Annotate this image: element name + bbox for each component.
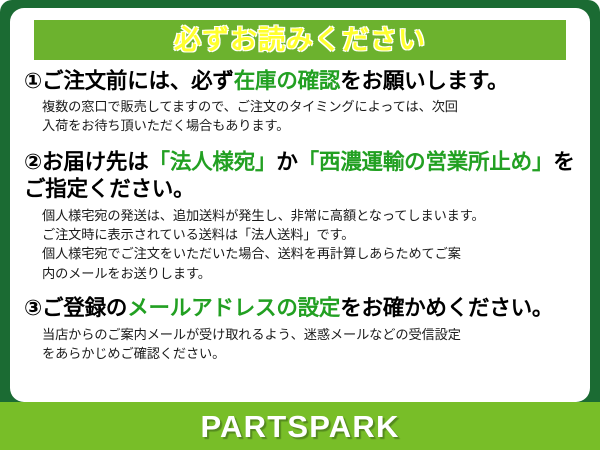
section-1-heading-after: をお願いします。: [340, 69, 508, 93]
section-3-body: 当店からのご案内メールが受け取れるよう、迷惑メールなどの受信設定 をあらかじめご…: [42, 325, 580, 364]
section-2-heading: ②お届け先は「法人様宛」か「西濃運輸の営業所止め」をご指定ください。: [24, 149, 580, 203]
notice-section-2: ②お届け先は「法人様宛」か「西濃運輸の営業所止め」をご指定ください。 個人様宅宛…: [24, 149, 580, 283]
section-2-heading-before: お届け先は: [42, 150, 149, 174]
notice-section-3: ③ご登録のメールアドレスの設定をお確かめください。 当店からのご案内メールが受け…: [24, 295, 580, 364]
section-3-marker: ③: [24, 296, 42, 320]
section-1-heading: ①ご注文前には、必ず在庫の確認をお願いします。: [24, 68, 580, 95]
section-2-body-line-3: 個人様宅宛でご注文をいただいた場合、送料を再計算しあらためてご案: [42, 244, 580, 263]
section-3-body-line-2: をあらかじめご確認ください。: [42, 344, 580, 363]
content-sheet: 必ずお読みください ①ご注文前には、必ず在庫の確認をお願いします。 複数の窓口で…: [10, 8, 590, 402]
section-1-body-line-2: 入荷をお待ち頂いただく場合もあります。: [42, 116, 580, 135]
brand-wordmark: PARTSPARK: [200, 411, 399, 442]
section-3-body-line-1: 当店からのご案内メールが受け取れるよう、迷惑メールなどの受信設定: [42, 325, 580, 344]
section-1-body: 複数の窓口で販売してますので、ご注文のタイミングによっては、次回 入荷をお待ち頂…: [42, 97, 580, 136]
section-2-marker: ②: [24, 150, 42, 174]
notice-banner: 必ずお読みください: [34, 20, 566, 60]
section-2-heading-highlight-2: 「西濃運輸の営業所止め」: [298, 150, 554, 174]
section-3-heading-highlight: メールアドレスの設定: [127, 296, 340, 320]
section-3-heading-before: ご登録の: [42, 296, 127, 320]
section-2-body: 個人様宅宛の発送は、追加送料が発生し、非常に高額となってしまいます。 ご注文時に…: [42, 206, 580, 283]
section-2-body-line-1: 個人様宅宛の発送は、追加送料が発生し、非常に高額となってしまいます。: [42, 206, 580, 225]
brand-footer: PARTSPARK: [0, 402, 600, 450]
section-1-heading-highlight: 在庫の確認: [234, 69, 341, 93]
section-1-marker: ①: [24, 69, 42, 93]
section-3-heading-after: をお確かめください。: [340, 296, 553, 320]
section-3-heading: ③ご登録のメールアドレスの設定をお確かめください。: [24, 295, 580, 322]
section-2-heading-highlight: 「法人様宛」: [149, 150, 277, 174]
section-2-body-line-2: ご注文時に表示されている送料は「法人送料」です。: [42, 225, 580, 244]
banner-title: 必ずお読みください: [174, 27, 426, 54]
section-1-body-line-1: 複数の窓口で販売してますので、ご注文のタイミングによっては、次回: [42, 97, 580, 116]
section-2-body-line-4: 内のメールをお送りします。: [42, 264, 580, 283]
section-1-heading-before: ご注文前には、必ず: [42, 69, 234, 93]
section-2-heading-middle: か: [276, 150, 297, 174]
notice-section-1: ①ご注文前には、必ず在庫の確認をお願いします。 複数の窓口で販売してますので、ご…: [24, 68, 580, 136]
notice-sections: ①ご注文前には、必ず在庫の確認をお願いします。 複数の窓口で販売してますので、ご…: [24, 68, 580, 366]
notice-card: 必ずお読みください ①ご注文前には、必ず在庫の確認をお願いします。 複数の窓口で…: [0, 0, 600, 450]
